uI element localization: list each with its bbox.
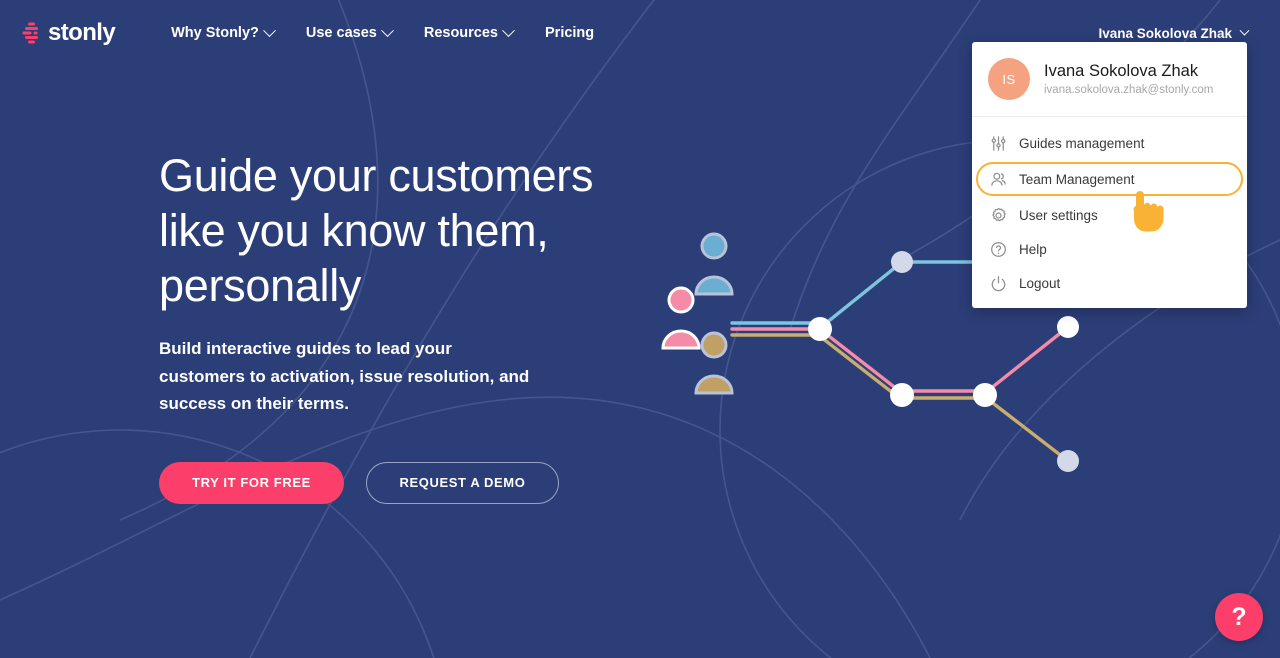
hero-title-line-3: personally xyxy=(159,260,361,311)
profile-text: Ivana Sokolova Zhak ivana.sokolova.zhak@… xyxy=(1044,62,1213,96)
nav-item-resources[interactable]: Resources xyxy=(408,17,529,49)
help-floating-button[interactable]: ? xyxy=(1215,593,1263,641)
nav-item-pricing[interactable]: Pricing xyxy=(529,17,610,49)
hero-title-line-1: Guide your customers xyxy=(159,150,593,201)
profile-name: Ivana Sokolova Zhak xyxy=(1044,62,1213,81)
sliders-icon xyxy=(990,135,1007,152)
nav-item-label: Pricing xyxy=(545,25,594,41)
menu-item-help[interactable]: Help xyxy=(976,232,1243,266)
chevron-down-icon xyxy=(502,24,515,37)
nav-item-label: Why Stonly? xyxy=(171,25,259,41)
diagram-node xyxy=(1057,316,1079,338)
nav-item-why-stonly[interactable]: Why Stonly? xyxy=(155,17,290,49)
dropdown-items: Guides management Team Management xyxy=(972,117,1247,300)
menu-item-user-settings[interactable]: User settings xyxy=(976,198,1243,232)
stonly-logo[interactable]: stonly xyxy=(22,19,115,47)
nav-item-label: Resources xyxy=(424,25,498,41)
avatar: IS xyxy=(988,58,1030,100)
hero-subtitle: Build interactive guides to lead your cu… xyxy=(159,335,531,418)
landing-page: stonly Why Stonly? Use cases Resources P… xyxy=(0,0,1280,658)
request-a-demo-button[interactable]: REQUEST A DEMO xyxy=(366,462,559,504)
hero-title-line-2: like you know them, xyxy=(159,205,548,256)
chevron-down-icon xyxy=(381,24,394,37)
power-icon xyxy=(990,275,1007,292)
menu-item-label: Help xyxy=(1019,242,1047,257)
menu-item-label: Team Management xyxy=(1019,172,1135,187)
nav-item-use-cases[interactable]: Use cases xyxy=(290,17,408,49)
diagram-node xyxy=(1057,450,1079,472)
diagram-node-hub xyxy=(808,317,832,341)
hero-cta-group: TRY IT FOR FREE REQUEST A DEMO xyxy=(159,462,719,504)
people-icon xyxy=(990,171,1007,188)
menu-item-label: Guides management xyxy=(1019,136,1144,151)
page-title: Guide your customers like you know them,… xyxy=(159,148,719,313)
user-dropdown-menu: IS Ivana Sokolova Zhak ivana.sokolova.zh… xyxy=(972,42,1247,308)
logo-text: stonly xyxy=(48,19,115,47)
dropdown-profile-header: IS Ivana Sokolova Zhak ivana.sokolova.zh… xyxy=(972,42,1247,117)
diagram-node xyxy=(890,383,914,407)
menu-item-guides-management[interactable]: Guides management xyxy=(976,126,1243,160)
stonly-logo-icon xyxy=(22,22,41,44)
menu-item-logout[interactable]: Logout xyxy=(976,266,1243,300)
gear-icon xyxy=(990,207,1007,224)
diagram-node xyxy=(973,383,997,407)
user-menu-label: Ivana Sokolova Zhak xyxy=(1098,26,1232,41)
question-circle-icon xyxy=(990,241,1007,258)
profile-email: ivana.sokolova.zhak@stonly.com xyxy=(1044,84,1213,96)
nav-links: Why Stonly? Use cases Resources Pricing xyxy=(155,17,610,49)
try-it-for-free-button[interactable]: TRY IT FOR FREE xyxy=(159,462,344,504)
menu-item-label: User settings xyxy=(1019,208,1098,223)
menu-item-label: Logout xyxy=(1019,276,1060,291)
question-mark-icon: ? xyxy=(1231,603,1246,632)
hero-section: Guide your customers like you know them,… xyxy=(159,148,719,504)
menu-item-team-management[interactable]: Team Management xyxy=(976,162,1243,196)
chevron-down-icon xyxy=(263,24,276,37)
diagram-node xyxy=(891,251,913,273)
nav-item-label: Use cases xyxy=(306,25,377,41)
chevron-down-icon xyxy=(1240,25,1250,35)
